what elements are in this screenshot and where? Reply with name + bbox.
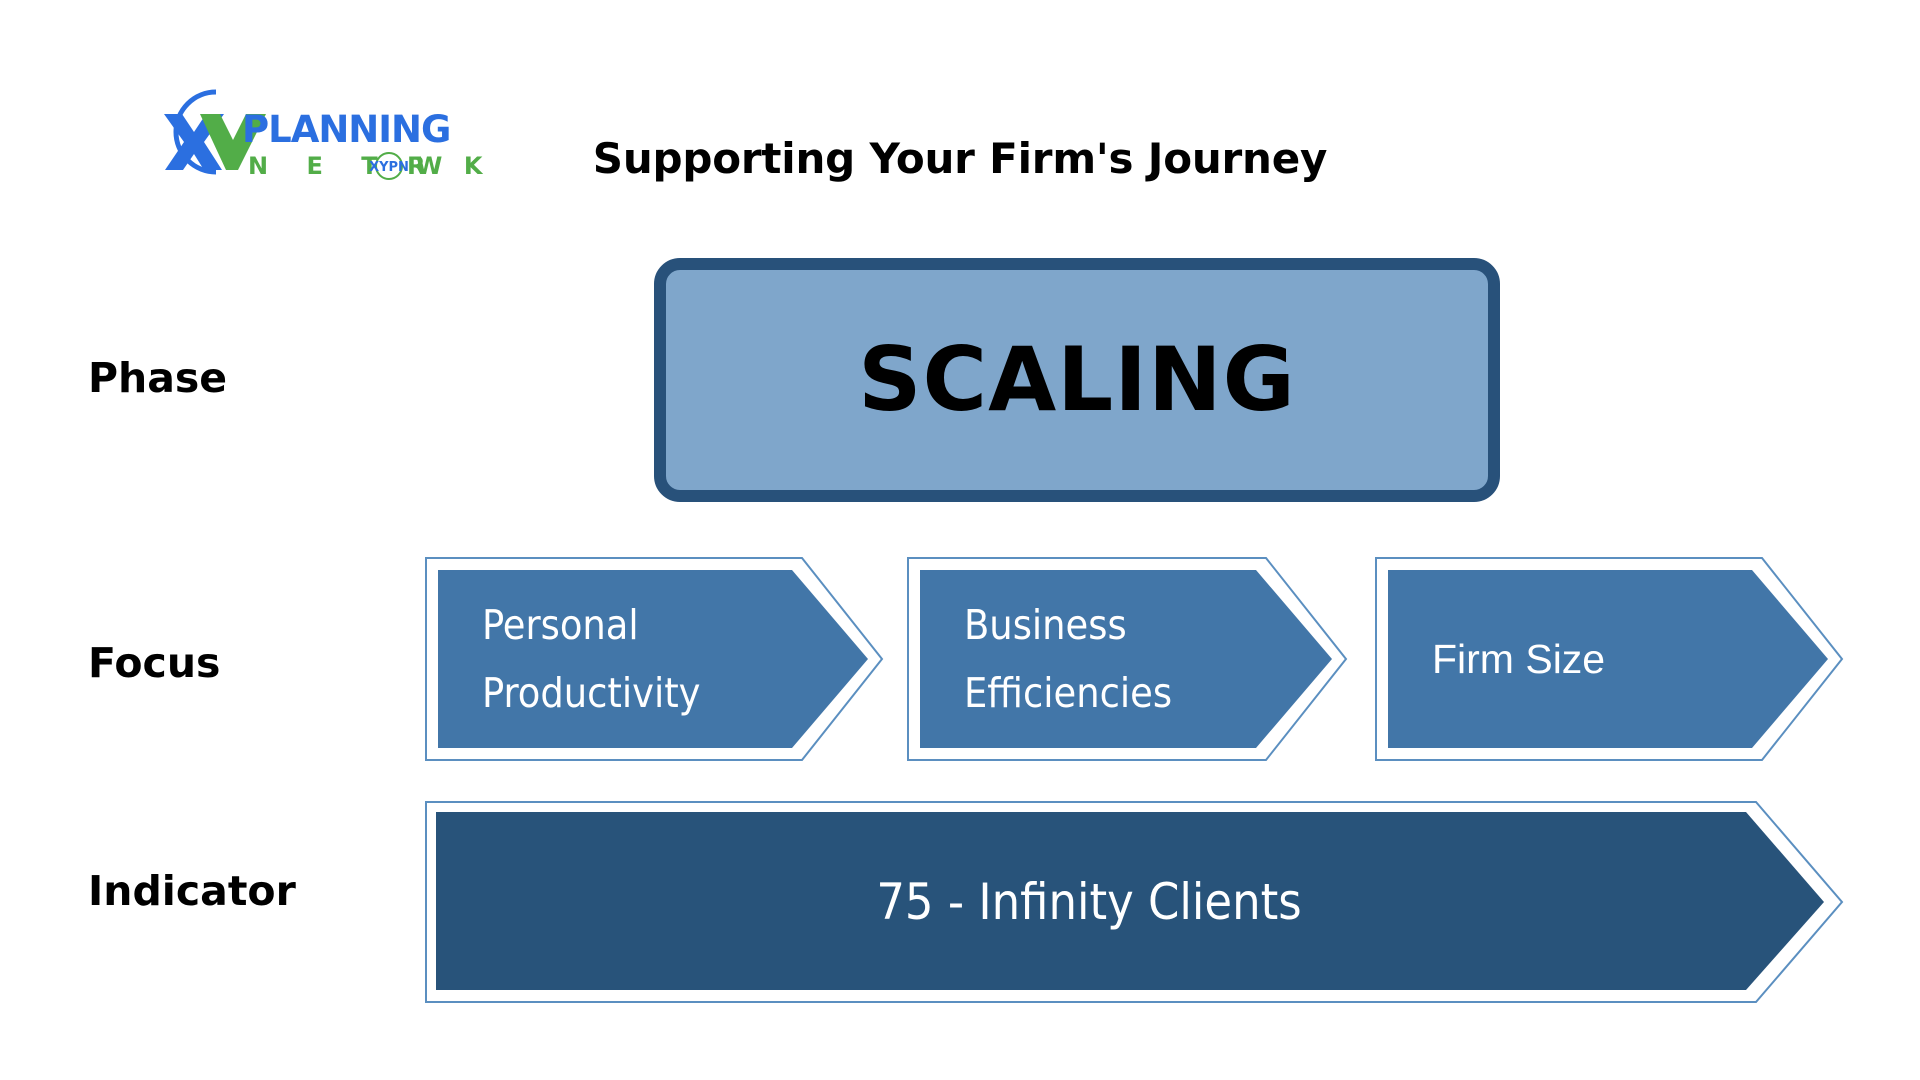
focus-chevron-3-shape (1374, 556, 1844, 762)
row-label-phase: Phase (88, 355, 227, 401)
row-label-focus: Focus (88, 640, 220, 686)
slide-canvas: PLANNING N E T W XYPN R K Supporting You… (0, 0, 1920, 1080)
focus-chevron-row: Personal Productivity Business Efficienc… (424, 556, 1844, 762)
row-label-indicator: Indicator (88, 868, 296, 914)
focus-chevron-2-shape (906, 556, 1348, 762)
indicator-chevron-shape (424, 800, 1844, 1004)
focus-chevron-2[interactable]: Business Efficiencies (906, 556, 1348, 762)
phase-box-label: SCALING (858, 332, 1296, 428)
logo-svg: PLANNING N E T W XYPN R K (138, 78, 490, 186)
indicator-chevron[interactable]: 75 - Infinity Clients (424, 800, 1844, 1004)
phase-box-scaling[interactable]: SCALING (654, 258, 1500, 502)
logo-wordmark-planning: PLANNING (242, 108, 450, 151)
page-title: Supporting Your Firm's Journey (560, 134, 1360, 184)
focus-chevron-1-shape (424, 556, 884, 762)
xy-planning-network-logo[interactable]: PLANNING N E T W XYPN R K (138, 78, 490, 186)
logo-wordmark-network-part2: R K (407, 152, 490, 180)
focus-chevron-1[interactable]: Personal Productivity (424, 556, 884, 762)
logo-badge-text: XYPN (369, 160, 409, 175)
focus-chevron-3[interactable]: Firm Size (1374, 556, 1844, 762)
